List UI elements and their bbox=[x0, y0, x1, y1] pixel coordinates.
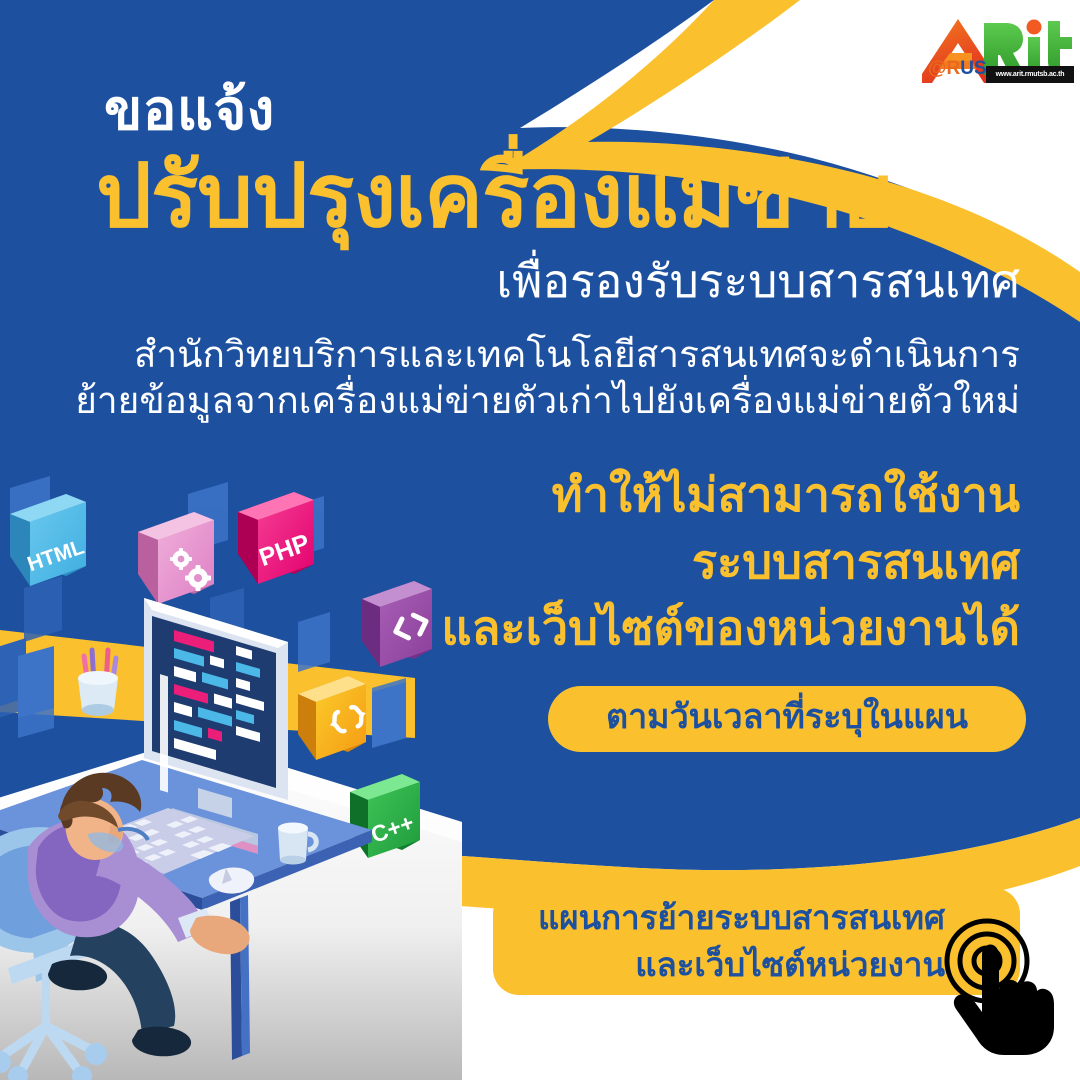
logo-url-text: www.arit.rmutsb.ac.th bbox=[986, 66, 1074, 83]
body-paragraph-line-1: สำนักวิทยบริการและเทคโนโลยีสารสนเทศจะดำเ… bbox=[134, 334, 1020, 375]
subtitle-text: เพื่อรองรับระบบสารสนเทศ bbox=[0, 256, 1020, 307]
content-layer: ขอแจ้ง ปรับปรุงเครื่องแม่ข่าย เพื่อรองรั… bbox=[0, 0, 1080, 1080]
arit-logo: @RUS www.arit.rmutsb.ac.th bbox=[922, 9, 1078, 91]
logo-r-letter: R bbox=[947, 58, 961, 79]
emphasis-line-2: ระบบสารสนเทศ bbox=[0, 529, 1020, 596]
body-paragraph-line-2: ย้ายข้อมูลจากเครื่องแม่ข่ายตัวเก่าไปยังเ… bbox=[0, 378, 1020, 424]
logo-at-symbol: @ bbox=[928, 58, 947, 79]
cta-line-2: และเว็บไซต์หน่วยงาน bbox=[515, 942, 945, 989]
body-paragraph: สำนักวิทยบริการและเทคโนโลยีสารสนเทศจะดำเ… bbox=[0, 332, 1020, 424]
page-title: ปรับปรุงเครื่องแม่ข่าย bbox=[96, 152, 1012, 240]
schedule-note-label: ตามวันเวลาที่ระบุในแผน bbox=[606, 700, 968, 738]
eyebrow-text: ขอแจ้ง bbox=[104, 82, 275, 138]
emphasis-block: ทำให้ไม่สามารถใช้งาน ระบบสารสนเทศ และเว็… bbox=[0, 462, 1020, 662]
logo-arus-text: @RUS bbox=[928, 59, 987, 78]
cta-line-1: แผนการย้ายระบบสารสนเทศ bbox=[515, 895, 945, 942]
migration-plan-button-label: แผนการย้ายระบบสารสนเทศ และเว็บไซต์หน่วยง… bbox=[515, 895, 945, 989]
logo-us-letters: US bbox=[960, 58, 986, 79]
emphasis-line-1: ทำให้ไม่สามารถใช้งาน bbox=[0, 462, 1020, 529]
emphasis-line-3: และเว็บไซต์ของหน่วยงานได้ bbox=[0, 595, 1020, 662]
poster-canvas: HTML bbox=[0, 0, 1080, 1080]
migration-plan-button[interactable]: แผนการย้ายระบบสารสนเทศ และเว็บไซต์หน่วยง… bbox=[493, 888, 1020, 995]
schedule-note-pill: ตามวันเวลาที่ระบุในแผน bbox=[548, 686, 1026, 752]
